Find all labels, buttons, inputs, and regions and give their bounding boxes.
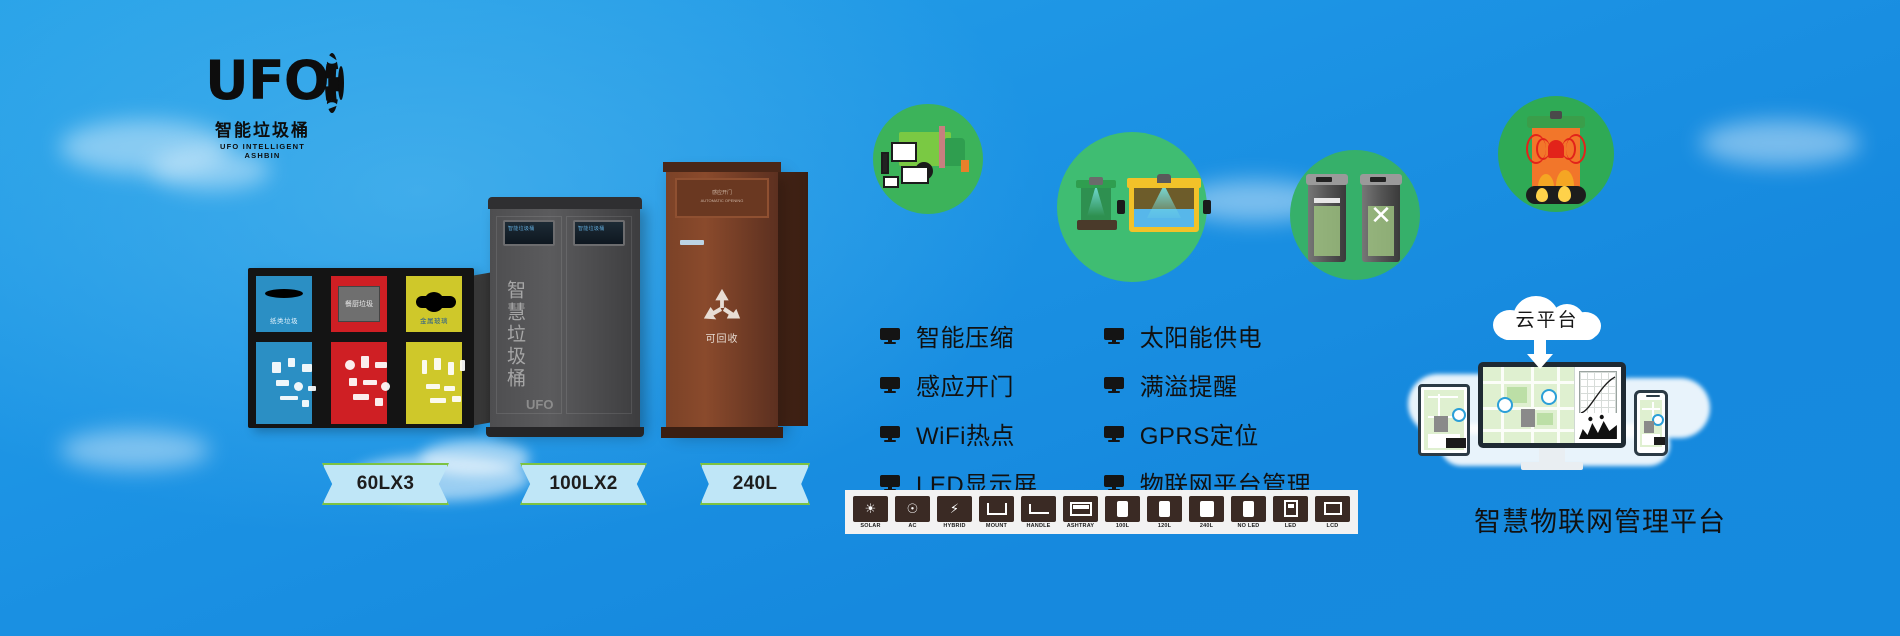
- bin-side-face: [776, 172, 808, 426]
- monitor-bullet-icon: [1104, 377, 1124, 393]
- bin-window-right: 智能垃圾桶: [573, 220, 625, 246]
- background-cloud: [1700, 120, 1860, 166]
- spec-icon-mount: MOUNT: [979, 496, 1014, 529]
- no-led-icon: [1243, 501, 1254, 517]
- capacity-banner-240l: 240L: [700, 463, 810, 505]
- fill-level-sensor-icon: [1057, 132, 1207, 282]
- spec-icon-ac: ☉ AC: [895, 496, 930, 529]
- spec-icon-label: AC: [895, 523, 930, 529]
- capacity-banner-100lx2: 100LX2: [520, 463, 647, 505]
- monitor-foot: [1521, 462, 1583, 470]
- monitor-bullet-icon: [880, 426, 900, 442]
- monitor-neck: [1539, 448, 1565, 462]
- spec-icon-label: 120L: [1147, 523, 1182, 529]
- feature-circle-fill-sensing: [1057, 132, 1207, 282]
- bin-panel-cn-text: 感应开门: [677, 189, 767, 196]
- spec-icon-label: 100L: [1105, 523, 1140, 529]
- feature-circle-compaction: ✕: [1290, 150, 1420, 280]
- feature-label: 太阳能供电: [1140, 318, 1263, 353]
- phone-map-view: [1640, 400, 1662, 447]
- feature-label: WiFi热点: [916, 416, 1015, 451]
- phone-device: [1634, 390, 1668, 456]
- monitor-bullet-icon: [1104, 426, 1124, 442]
- bin-top-cap: [488, 197, 642, 209]
- triple-recycling-bin: 纸类垃圾 餐厨垃圾: [248, 268, 474, 428]
- bin-120l-icon: [1159, 501, 1170, 517]
- spec-icon-led: LED: [1273, 496, 1308, 529]
- dashboard-map: [1483, 367, 1574, 443]
- sun-icon: ☀: [865, 502, 877, 515]
- ashtray-icon: [1070, 502, 1092, 516]
- smart-bin-brown: 感应开门 AUTOMATIC OPENING 可回收: [666, 168, 778, 430]
- monitor-bullet-icon: [880, 475, 900, 491]
- spec-icon-no-led: NO LED: [1231, 496, 1266, 529]
- bin-screen-text: 餐厨垃圾: [339, 287, 379, 323]
- monitor-bullet-icon: [1104, 475, 1124, 491]
- tablet-map-view: [1424, 390, 1464, 450]
- spec-icon-strip: ☀ SOLAR ☉ AC ⚡ HYBRID MOUNT HANDLE ASHTR…: [845, 490, 1358, 534]
- spec-icon-120l: 120L: [1147, 496, 1182, 529]
- bin-sensor-slot: [680, 240, 704, 245]
- spec-icon-label: HYBRID: [937, 523, 972, 529]
- feature-list: 智能压缩 感应开门 WiFi热点 LED显示屏 太阳能供电 满溢提醒: [880, 318, 1311, 500]
- feature-column-left: 智能压缩 感应开门 WiFi热点 LED显示屏: [880, 318, 1038, 500]
- spec-icon-240l: 240L: [1189, 496, 1224, 529]
- spec-icon-label: ASHTRAY: [1063, 523, 1098, 529]
- feature-label: 感应开门: [916, 367, 1014, 402]
- bin-window-text: 智能垃圾桶: [505, 222, 553, 235]
- feature-item: GPRS定位: [1104, 416, 1312, 451]
- feature-column-right: 太阳能供电 满溢提醒 GPRS定位 物联网平台管理: [1104, 318, 1312, 500]
- hybrid-power-icon: ⚡: [950, 502, 959, 515]
- dashboard-screen: [1483, 367, 1621, 443]
- smart-bin-grey: 智能垃圾桶 智能垃圾桶 智慧垃圾桶 UFO: [490, 202, 640, 430]
- spec-icon-handle: HANDLE: [1021, 496, 1056, 529]
- recycle-symbol-icon: [699, 286, 745, 328]
- logo-wordmark: UFO: [205, 55, 329, 107]
- desktop-monitor: [1478, 362, 1626, 470]
- bin-brand-mark: UFO: [526, 397, 553, 412]
- spec-icon-label: SOLAR: [853, 523, 888, 529]
- feature-item: 感应开门: [880, 367, 1038, 402]
- feature-item: 智能压缩: [880, 318, 1038, 353]
- bin-vertical-label: 智慧垃圾桶: [506, 280, 528, 390]
- bin-opening-secondary: [416, 296, 456, 308]
- feature-circle-fire-alarm: [1498, 96, 1614, 212]
- bin-window-text: 智能垃圾桶: [575, 222, 623, 235]
- feature-circle-truck-monitoring: [873, 104, 983, 214]
- background-cloud: [60, 430, 210, 470]
- waste-type-icons: [266, 352, 302, 414]
- bin-lid: [663, 162, 781, 172]
- poster-canvas: UFO 智能垃圾桶 UFO INTELLIGENT ASHBIN 纸类垃圾: [0, 0, 1900, 636]
- feature-label: 满溢提醒: [1140, 367, 1238, 402]
- dashboard-chart: [1574, 367, 1621, 443]
- bin-top-panel: 感应开门 AUTOMATIC OPENING: [675, 178, 769, 218]
- monitor-bullet-icon: [880, 377, 900, 393]
- bin-display-screen: 餐厨垃圾: [338, 286, 380, 322]
- cloud-platform-label: 云平台: [1493, 296, 1601, 340]
- logo-chinese-name: 智能垃圾桶: [205, 116, 320, 141]
- spec-icon-label: NO LED: [1231, 523, 1266, 529]
- bin-240l-icon: [1200, 501, 1214, 517]
- power-plug-icon: ☉: [907, 502, 919, 515]
- spec-icon-lcd: LCD: [1315, 496, 1350, 529]
- bin-compartment-label: 纸类垃圾: [256, 315, 312, 325]
- bin-opening: [265, 289, 303, 298]
- ufo-logo: UFO 智能垃圾桶 UFO INTELLIGENT ASHBIN: [205, 55, 320, 160]
- monitor-bezel: [1478, 362, 1626, 448]
- spec-icon-label: LED: [1273, 523, 1308, 529]
- spec-icon-ashtray: ASHTRAY: [1063, 496, 1098, 529]
- spec-icon-100l: 100L: [1105, 496, 1140, 529]
- feature-label: 智能压缩: [916, 318, 1014, 353]
- feature-item: 太阳能供电: [1104, 318, 1312, 353]
- lcd-icon: [1324, 502, 1342, 515]
- bin-compartment-label: 金属玻璃: [406, 315, 462, 325]
- bin-base: [486, 427, 644, 437]
- spec-icon-label: LCD: [1315, 523, 1350, 529]
- platform-title: 智慧物联网管理平台: [1450, 500, 1750, 539]
- handle-icon: [1029, 504, 1049, 514]
- recycle-label: 可回收: [666, 330, 778, 345]
- spec-icon-solar: ☀ SOLAR: [853, 496, 888, 529]
- capacity-banner-60lx3: 60LX3: [322, 463, 449, 505]
- spec-icon-label: 240L: [1189, 523, 1224, 529]
- spec-icon-label: HANDLE: [1021, 523, 1056, 529]
- waste-type-icons: [416, 352, 452, 414]
- feature-label: GPRS定位: [1140, 416, 1259, 451]
- waste-compaction-icon: ✕: [1290, 150, 1420, 280]
- bin-foot: [661, 427, 783, 438]
- feature-item: 满溢提醒: [1104, 367, 1312, 402]
- monitor-bullet-icon: [880, 328, 900, 344]
- monitor-bullet-icon: [1104, 328, 1124, 344]
- tablet-device: [1418, 384, 1470, 456]
- bin-100l-icon: [1117, 501, 1128, 517]
- spec-icon-hybrid: ⚡ HYBRID: [937, 496, 972, 529]
- waste-type-icons: [341, 352, 377, 414]
- fire-alarm-icon: [1498, 96, 1614, 212]
- led-icon: [1284, 500, 1298, 517]
- bin-panel-en-text: AUTOMATIC OPENING: [677, 198, 767, 203]
- feature-item: WiFi热点: [880, 416, 1038, 451]
- spec-icon-label: MOUNT: [979, 523, 1014, 529]
- wall-mount-icon: [987, 503, 1007, 515]
- bin-side-panel: [472, 272, 492, 426]
- bin-window-left: 智能垃圾桶: [503, 220, 555, 246]
- cloud-platform-badge: 云平台: [1493, 296, 1601, 340]
- logo-english-name: UFO INTELLIGENT ASHBIN: [205, 142, 320, 160]
- garbage-truck-icon: [873, 104, 983, 214]
